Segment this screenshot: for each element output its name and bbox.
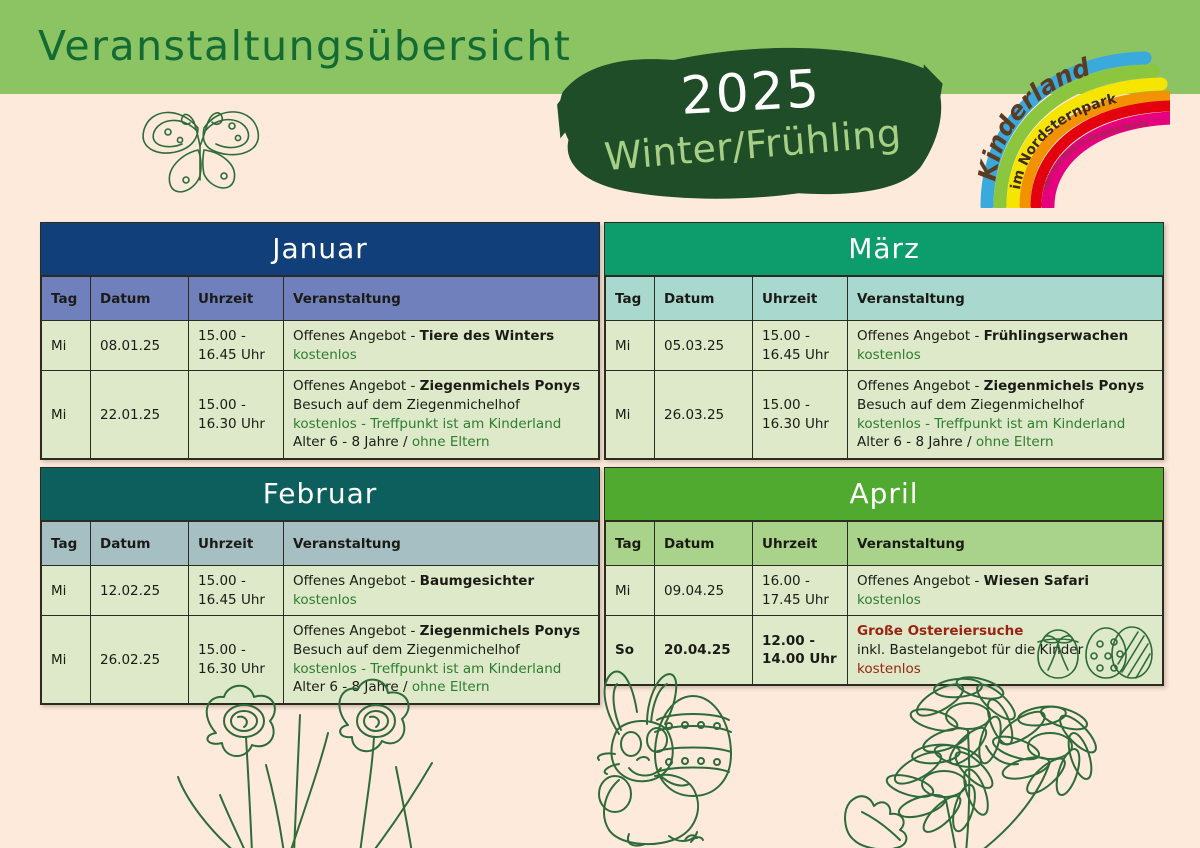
table-row: Mi 26.03.25 15.00 - 16.30 Uhr Offenes An… [606,371,1163,459]
month-table-maerz: März Tag Datum Uhrzeit Veranstaltung Mi … [604,222,1164,460]
col-tag: Tag [606,277,655,321]
month-table-april: April Tag Datum Uhrzeit Veranstaltung Mi… [604,467,1164,686]
cell-datum: 12.02.25 [91,566,189,616]
month-title-februar: Februar [41,468,599,521]
cell-datum: 05.03.25 [655,321,753,371]
month-table-februar: Februar Tag Datum Uhrzeit Veranstaltung … [40,467,600,705]
page-title: Veranstaltungsübersicht [38,22,571,70]
cell-tag: Mi [606,321,655,371]
cell-uhrzeit: 15.00 - 16.45 Uhr [189,566,284,616]
col-veranstaltung: Veranstaltung [284,522,599,566]
easter-bunny-icon [585,668,775,848]
cell-uhrzeit: 15.00 - 16.45 Uhr [189,321,284,371]
cell-veranstaltung: Offenes Angebot - Baumgesichter kostenlo… [284,566,599,616]
cell-veranstaltung: Offenes Angebot - Frühlingserwachen kost… [848,321,1163,371]
daffodils-icon [150,675,550,848]
table-header-row: Tag Datum Uhrzeit Veranstaltung [42,277,599,321]
col-datum: Datum [655,277,753,321]
col-uhrzeit: Uhrzeit [189,522,284,566]
cell-tag: Mi [606,566,655,616]
table-row: Mi 05.03.25 15.00 - 16.45 Uhr Offenes An… [606,321,1163,371]
poster-page: Veranstaltungsübersicht 2025 Winter/Früh… [0,0,1200,848]
col-veranstaltung: Veranstaltung [284,277,599,321]
col-datum: Datum [91,277,189,321]
col-datum: Datum [91,522,189,566]
butterfly-icon [120,88,280,198]
month-title-april: April [605,468,1163,521]
cell-datum: 26.03.25 [655,371,753,459]
col-veranstaltung: Veranstaltung [848,522,1163,566]
season-badge: 2025 Winter/Frühling [553,38,951,211]
cell-tag: Mi [42,371,91,459]
col-veranstaltung: Veranstaltung [848,277,1163,321]
cell-veranstaltung: Offenes Angebot - Wiesen Safari kostenlo… [848,566,1163,616]
cell-uhrzeit: 15.00 - 16.45 Uhr [753,321,848,371]
col-uhrzeit: Uhrzeit [753,522,848,566]
month-table-januar: Januar Tag Datum Uhrzeit Veranstaltung M… [40,222,600,460]
cell-datum: 22.01.25 [91,371,189,459]
cell-tag: Mi [42,616,91,704]
table-row: Mi 09.04.25 16.00 - 17.45 Uhr Offenes An… [606,566,1163,616]
month-title-maerz: März [605,223,1163,276]
cell-veranstaltung: Offenes Angebot - Ziegenmichels Ponys Be… [848,371,1163,459]
table-row: Mi 22.01.25 15.00 - 16.30 Uhr Offenes An… [42,371,599,459]
col-tag: Tag [42,277,91,321]
cell-tag: Mi [42,321,91,371]
table-row: Mi 08.01.25 15.00 - 16.45 Uhr Offenes An… [42,321,599,371]
table-row: Mi 12.02.25 15.00 - 16.45 Uhr Offenes An… [42,566,599,616]
cell-tag: Mi [42,566,91,616]
col-datum: Datum [655,522,753,566]
col-uhrzeit: Uhrzeit [189,277,284,321]
kinderland-logo: Kinderland im Nordsternpark Spiel und Sp… [975,48,1170,208]
col-uhrzeit: Uhrzeit [753,277,848,321]
cell-tag: Mi [606,371,655,459]
table-header-row: Tag Datum Uhrzeit Veranstaltung [42,522,599,566]
cell-uhrzeit: 15.00 - 16.30 Uhr [753,371,848,459]
table-header-row: Tag Datum Uhrzeit Veranstaltung [606,522,1163,566]
cell-datum: 09.04.25 [655,566,753,616]
cell-veranstaltung: Offenes Angebot - Tiere des Winters kost… [284,321,599,371]
table-header-row: Tag Datum Uhrzeit Veranstaltung [606,277,1163,321]
daisies-icon [840,672,1170,848]
month-title-januar: Januar [41,223,599,276]
cell-veranstaltung: Offenes Angebot - Ziegenmichels Ponys Be… [284,371,599,459]
col-tag: Tag [42,522,91,566]
cell-datum: 08.01.25 [91,321,189,371]
cell-uhrzeit: 15.00 - 16.30 Uhr [189,371,284,459]
cell-uhrzeit: 16.00 - 17.45 Uhr [753,566,848,616]
col-tag: Tag [606,522,655,566]
